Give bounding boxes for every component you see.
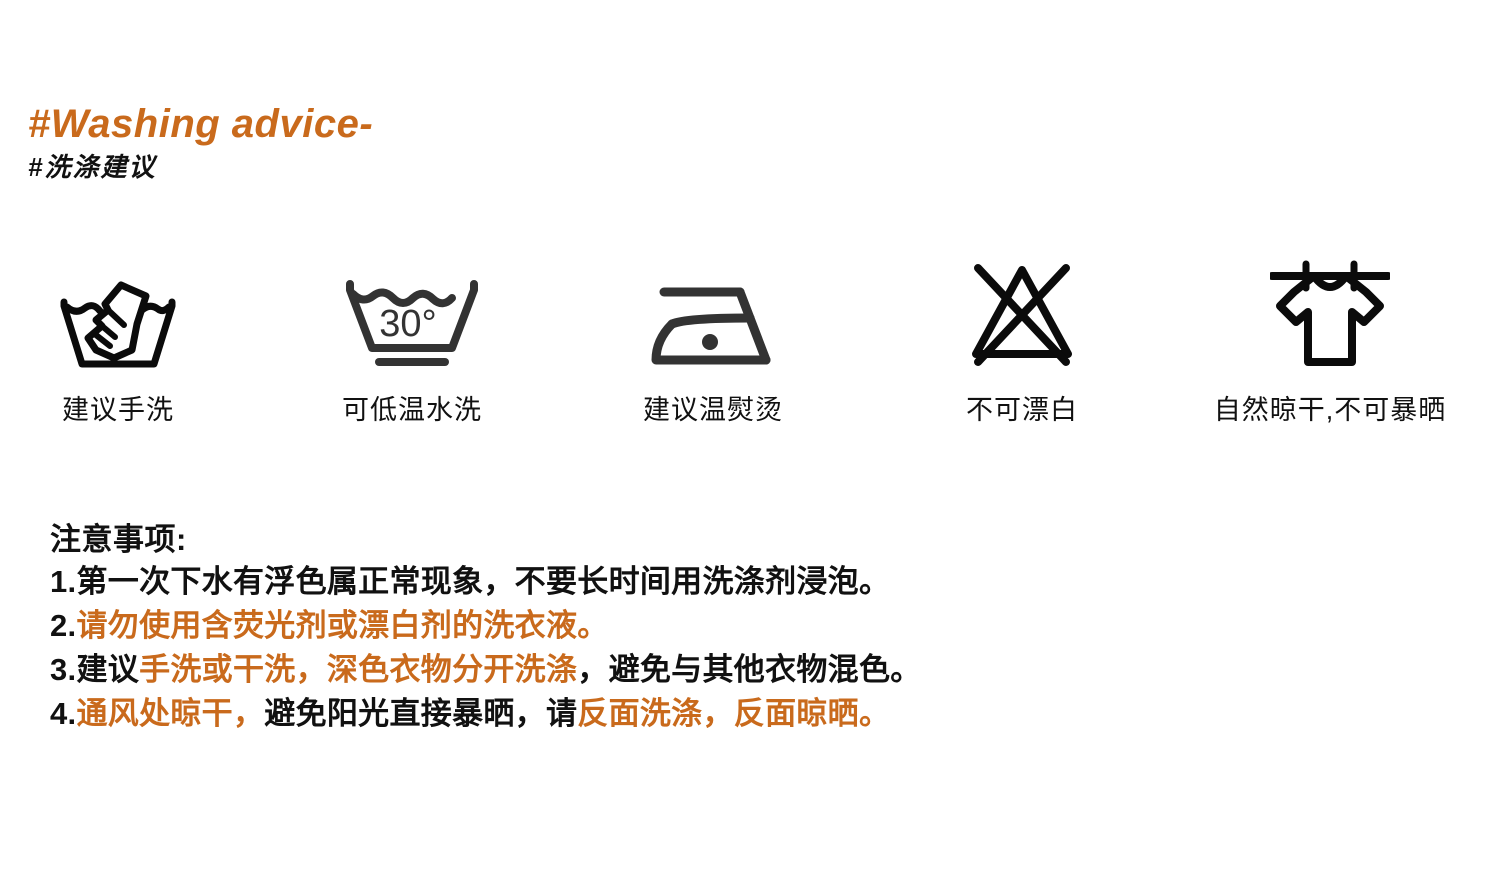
page-title-english: #Washing advice- <box>28 104 728 144</box>
hand-wash-basin-icon <box>58 255 178 370</box>
note-item: 4.通风处晾干，避免阳光直接暴晒，请反面洗涤，反面晾晒。 <box>50 692 1450 736</box>
care-symbol-label: 建议手洗 <box>62 388 174 427</box>
notes-title: 注意事项: <box>50 520 1450 560</box>
care-symbol-row: 建议手洗 30° 可低温水洗 <box>0 255 1500 435</box>
note-item-number: 1. <box>50 564 76 599</box>
note-item-number: 3. <box>50 652 76 687</box>
care-symbol-do-not-bleach: 不可漂白 <box>922 255 1122 435</box>
care-symbol-label: 可低温水洗 <box>342 388 482 427</box>
care-symbol-warm-iron: 建议温熨烫 <box>613 255 813 435</box>
notes-list: 1.第一次下水有浮色属正常现象，不要长时间用洗涤剂浸泡。2.请勿使用含荧光剂或漂… <box>50 560 1450 736</box>
note-item-number: 2. <box>50 608 76 643</box>
note-text-highlight: 反面洗涤，反面晾晒。 <box>577 696 890 731</box>
care-symbol-hand-wash: 建议手洗 <box>18 255 218 435</box>
do-not-bleach-triangle-icon <box>962 255 1082 370</box>
note-text: 建议 <box>76 652 139 687</box>
note-item: 2.请勿使用含荧光剂或漂白剂的洗衣液。 <box>50 604 1450 648</box>
page-title-chinese: #洗涤建议 <box>28 154 728 180</box>
note-item-number: 4. <box>50 696 76 731</box>
note-text-highlight: 手洗或干洗，深色衣物分开洗涤 <box>139 652 577 687</box>
note-item: 3.建议手洗或干洗，深色衣物分开洗涤，避免与其他衣物混色。 <box>50 648 1450 692</box>
care-symbol-label: 建议温熨烫 <box>643 388 783 427</box>
care-symbol-label: 自然晾干,不可暴晒 <box>1214 388 1447 427</box>
wash-temperature-value: 30° <box>379 303 436 345</box>
care-symbol-line-dry: 自然晾干,不可暴晒 <box>1180 255 1480 435</box>
page-header: #Washing advice- #洗涤建议 <box>28 104 728 180</box>
care-symbol-low-temp-wash: 30° 可低温水洗 <box>312 255 512 435</box>
washing-advice-page: #Washing advice- #洗涤建议 <box>0 0 1500 870</box>
note-text-highlight: 请勿使用含荧光剂或漂白剂的洗衣液。 <box>76 608 608 643</box>
note-text-highlight: 通风处晾干， <box>76 696 264 731</box>
note-text: 避免阳光直接暴晒，请 <box>264 696 577 731</box>
care-symbol-label: 不可漂白 <box>966 388 1078 427</box>
notes-section: 注意事项: 1.第一次下水有浮色属正常现象，不要长时间用洗涤剂浸泡。2.请勿使用… <box>50 520 1450 736</box>
note-item: 1.第一次下水有浮色属正常现象，不要长时间用洗涤剂浸泡。 <box>50 560 1450 604</box>
iron-one-dot-icon <box>648 255 778 370</box>
wash-tub-30-degree-icon: 30° <box>342 255 482 370</box>
note-text: 第一次下水有浮色属正常现象，不要长时间用洗涤剂浸泡。 <box>76 564 890 599</box>
line-dry-tshirt-icon <box>1270 255 1390 370</box>
note-text: ，避免与其他衣物混色。 <box>577 652 921 687</box>
